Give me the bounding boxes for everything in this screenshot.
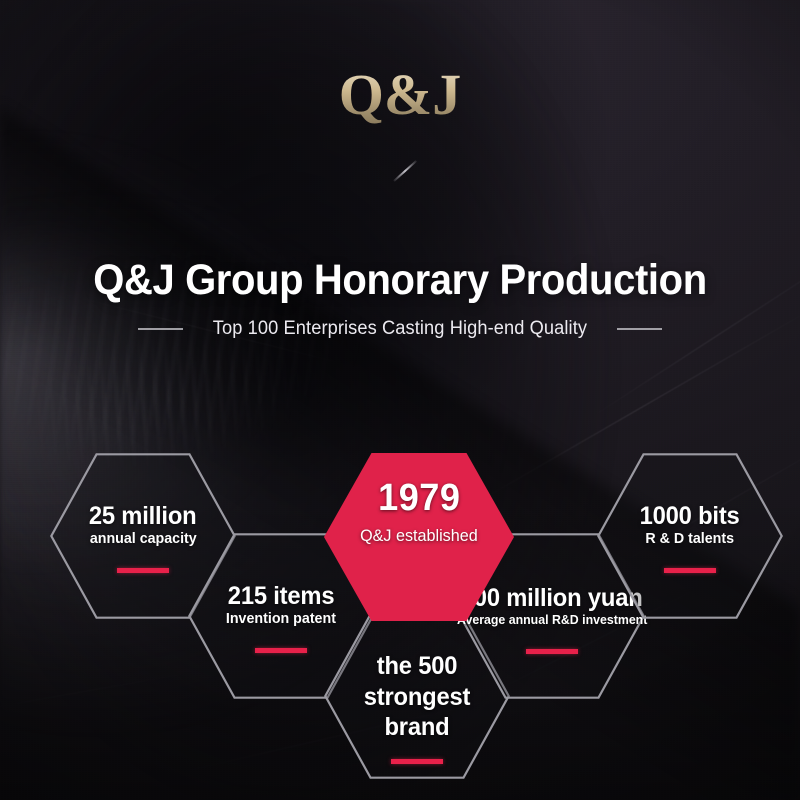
infographic-poster: Q&J Q&J Group Honorary Production Top 10…	[0, 0, 800, 800]
hexagon-filled-icon	[324, 453, 514, 621]
stat-hexagon-rd-talents[interactable]: 1000 bits R & D talents	[597, 453, 783, 619]
hexagon-outline-icon	[597, 453, 783, 619]
stats-hexagon-grid: 25 million annual capacity 215 items Inv…	[0, 0, 800, 800]
stat-hexagon-founded-year[interactable]: 1979 Q&J established	[324, 453, 514, 621]
